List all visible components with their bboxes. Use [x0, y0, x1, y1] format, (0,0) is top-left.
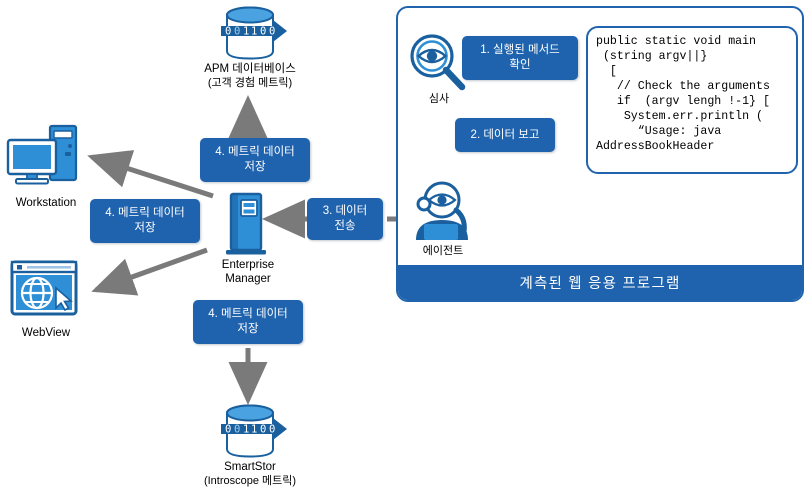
enterprise-manager-icon	[219, 190, 277, 258]
svg-text:0: 0	[260, 423, 266, 435]
apm-database-icon: 0 0 1 1 0 0	[205, 6, 295, 62]
svg-text:1: 1	[243, 25, 249, 37]
code-snippet-text: public static void main (string argv||} …	[596, 34, 789, 154]
callout-step2: 2. 데이터 보고	[455, 118, 555, 152]
callout-step1: 1. 실행된 메서드 확인	[462, 36, 578, 80]
svg-text:0: 0	[234, 25, 240, 37]
smartstor-icon: 0 0 1 1 0 0	[205, 404, 295, 460]
svg-text:0: 0	[225, 25, 231, 37]
agent-icon	[406, 180, 478, 242]
svg-text:1: 1	[251, 25, 257, 37]
svg-text:0: 0	[234, 423, 240, 435]
apm-database-label-line1: APM 데이터베이스	[178, 62, 322, 76]
svg-text:0: 0	[269, 423, 275, 435]
callout-step3: 3. 데이터 전송	[307, 198, 383, 240]
apm-database-label-line2: (고객 경험 메트릭)	[178, 76, 322, 90]
workstation-label: Workstation	[0, 196, 92, 210]
enterprise-manager-label-line2: Manager	[198, 272, 298, 286]
workstation-icon	[6, 122, 82, 190]
smartstor-label-line1: SmartStor	[178, 460, 322, 474]
code-snippet-box: public static void main (string argv||} …	[586, 26, 798, 174]
webview-icon	[10, 258, 80, 320]
agent-label: 에이전트	[402, 244, 484, 258]
arrow-em-to-workstation	[92, 157, 213, 196]
callout-step4-bottom: 4. 메트릭 데이터 저장	[193, 300, 303, 344]
smartstor-label-line2: (Introscope 메트릭)	[168, 474, 332, 488]
svg-text:1: 1	[251, 423, 257, 435]
enterprise-manager-label-line1: Enterprise	[198, 258, 298, 272]
diagram-canvas: 계측된 웹 응용 프로그램 public static void main (s…	[0, 0, 811, 497]
callout-step4-left: 4. 메트릭 데이터 저장	[90, 199, 200, 243]
svg-text:1: 1	[243, 423, 249, 435]
webview-label: WebView	[0, 326, 92, 340]
auditor-label: 심사	[399, 92, 479, 106]
arrow-em-to-webview	[96, 250, 207, 290]
instrumented-web-app-footer-label: 계측된 웹 응용 프로그램	[398, 265, 802, 300]
svg-text:0: 0	[260, 25, 266, 37]
svg-text:0: 0	[225, 423, 231, 435]
svg-text:0: 0	[269, 25, 275, 37]
callout-step4-top: 4. 메트릭 데이터 저장	[200, 138, 310, 182]
